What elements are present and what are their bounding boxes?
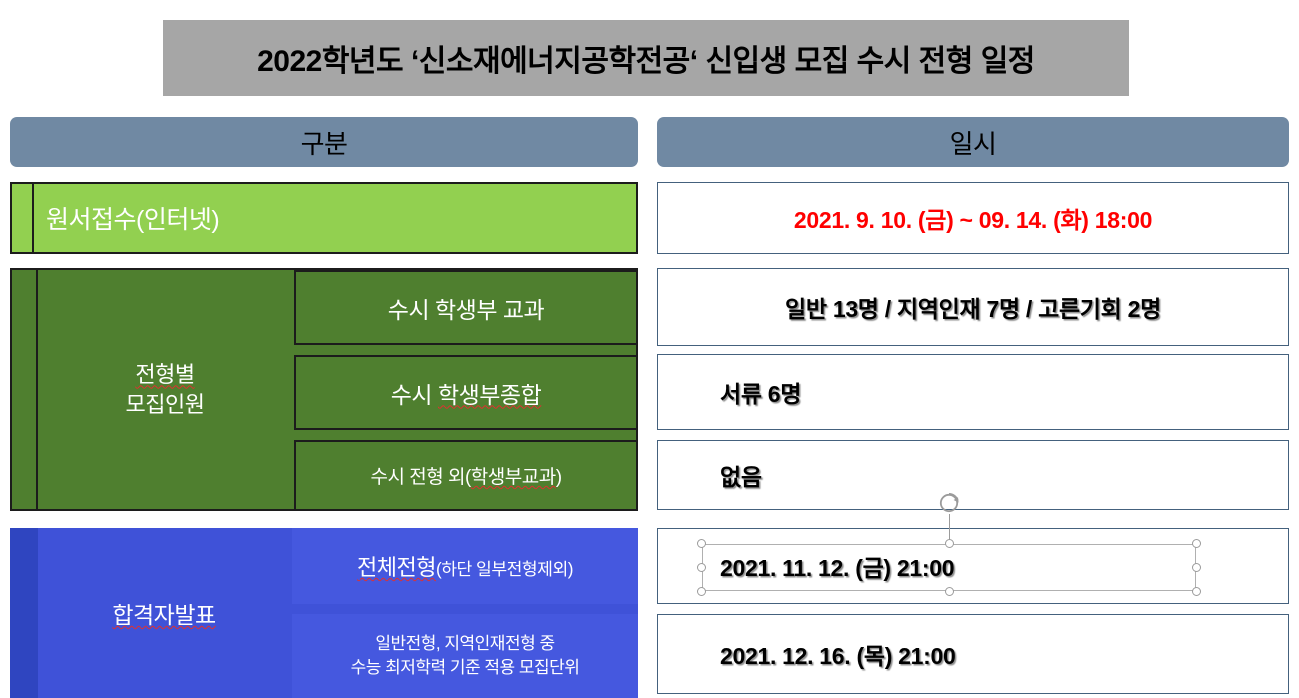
subrow-susi-jonghap-label: 수시 학생부종합 [391,376,542,410]
subrow-susi-outside-label: 수시 전형 외(학생부교과) [370,462,561,489]
column-header-category[interactable]: 구분 [10,117,638,167]
subrow-label-line2: 수능 최저학력 기준 적용 모집단위 [351,658,580,677]
group-accent-stripe [10,528,38,698]
row-accent-divider [32,184,34,252]
subrow-susi-outside[interactable]: 수시 전형 외(학생부교과) [294,440,638,511]
group-admission-quota[interactable]: 전형별 모집인원 수시 학생부 교과 수시 학생부종합 수시 전형 외(학생부교… [10,268,638,511]
subrow-susi-gyogwa[interactable]: 수시 학생부 교과 [294,270,638,345]
subrow-susi-jonghap[interactable]: 수시 학생부종합 [294,355,638,430]
subrow-label-marked: 학생부종합 [438,382,541,408]
row-application-reception-label: 원서접수(인터넷) [46,184,219,252]
subrow-label-line1: 일반전형, 지역인재전형 중 [375,634,554,653]
slide-title-banner[interactable]: 2022학년도 ‘신소재에너지공학전공‘ 신입생 모집 수시 전형 일정 [163,20,1129,96]
value-susi-gyogwa-inner: 일반 13명 / 지역인재 7명 / 고른기회 2명 [785,296,1161,322]
subrow-all-admission-types[interactable]: 전체전형(하단 일부전형제외) [292,528,638,604]
value-all-admission-types[interactable]: 2021. 11. 12. (금) 21:00 [657,528,1289,604]
subrow-susi-gyogwa-label: 수시 학생부 교과 [388,291,544,325]
value-susi-jonghap-text: 서류 6명 [720,375,801,409]
page-title: 2022학년도 ‘신소재에너지공학전공‘ 신입생 모집 수시 전형 일정 [257,36,1035,80]
value-susi-outside-text: 없음 [720,458,762,492]
subrow-label-tail: ) [556,467,562,488]
column-header-datetime[interactable]: 일시 [657,117,1289,167]
group-label-line1: 전형별 [135,362,194,387]
value-minimum-csat-units[interactable]: 2021. 12. 16. (목) 21:00 [657,614,1289,694]
value-minimum-csat-units-text: 2021. 12. 16. (목) 21:00 [720,637,955,671]
subrow-label-marked: 학생부교과 [471,467,556,488]
group-result-announcement[interactable]: 합격자발표 전체전형(하단 일부전형제외) 일반전형, 지역인재전형 중 수능 … [10,528,638,698]
column-header-datetime-label: 일시 [950,124,997,161]
value-application-reception[interactable]: 2021. 9. 10. (금) ~ 09. 14. (화) 18:00 [657,182,1289,254]
group-result-announcement-label: 합격자발표 [38,528,290,698]
subrow-label-prefix: 수시 전형 외( [370,467,470,488]
subrow-minimum-csat-units-label: 일반전형, 지역인재전형 중 수능 최저학력 기준 적용 모집단위 [351,632,580,680]
value-susi-outside[interactable]: 없음 [657,440,1289,510]
value-all-admission-types-text: 2021. 11. 12. (금) 21:00 [720,549,954,583]
group-label-line2: 모집인원 [126,392,205,417]
value-susi-gyogwa-text: 일반 13명 / 지역인재 7명 / 고른기회 2명 [785,290,1161,324]
subrow-label-marked: 전체전형 [357,555,436,580]
group-admission-quota-label: 전형별 모집인원 [38,270,292,509]
value-susi-gyogwa[interactable]: 일반 13명 / 지역인재 7명 / 고른기회 2명 [657,268,1289,346]
column-header-category-label: 구분 [301,124,348,161]
subrow-minimum-csat-units[interactable]: 일반전형, 지역인재전형 중 수능 최저학력 기준 적용 모집단위 [292,614,638,698]
group-result-label-text: 합격자발표 [112,596,215,630]
value-susi-jonghap[interactable]: 서류 6명 [657,354,1289,430]
subrow-label-paren: (하단 일부전형제외) [436,559,573,579]
subrow-all-admission-types-label: 전체전형(하단 일부전형제외) [357,550,573,582]
row-application-reception[interactable]: 원서접수(인터넷) [10,182,638,254]
value-application-reception-text: 2021. 9. 10. (금) ~ 09. 14. (화) 18:00 [794,201,1152,235]
subrow-label-prefix: 수시 [391,382,438,408]
